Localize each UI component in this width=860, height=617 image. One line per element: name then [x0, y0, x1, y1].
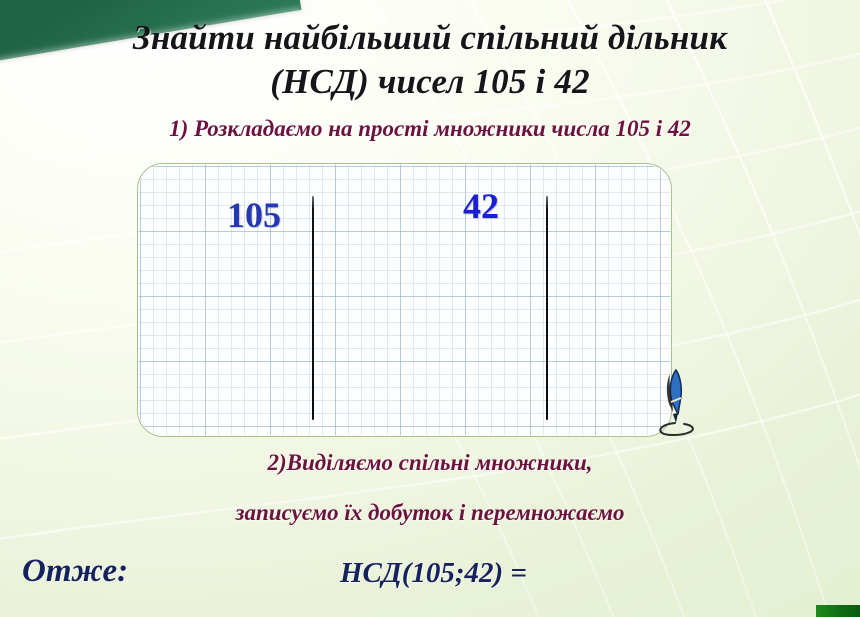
graph-paper-panel: 105 42 — [137, 163, 672, 437]
divider-line-right — [546, 196, 548, 420]
divider-line-left — [312, 196, 314, 420]
step-two-line-1: 2)Виділяємо спільні множники, — [0, 450, 860, 476]
step-one-text: 1) Розкладаємо на прості множники числа … — [0, 116, 860, 142]
page-title: Знайти найбільший спільний дільник (НСД)… — [0, 16, 860, 104]
conclusion-expression: НСД(105;42) = — [340, 557, 527, 590]
step-two-line-2: записуємо їх добуток і перемножаємо — [0, 500, 860, 526]
conclusion-row: Отже: НСД(105;42) = — [0, 553, 860, 601]
slide-canvas: Знайти найбільший спільний дільник (НСД)… — [0, 0, 860, 617]
number-42: 42 — [463, 188, 499, 224]
conclusion-label: Отже: — [22, 553, 128, 590]
chalk-tray — [0, 0, 149, 1]
title-line-1: Знайти найбільший спільний дільник — [133, 18, 727, 57]
number-105: 105 — [227, 197, 281, 233]
title-line-2: (НСД) чисел 105 і 42 — [0, 60, 860, 104]
green-corner-accent — [816, 605, 860, 617]
pen-icon — [652, 366, 706, 438]
